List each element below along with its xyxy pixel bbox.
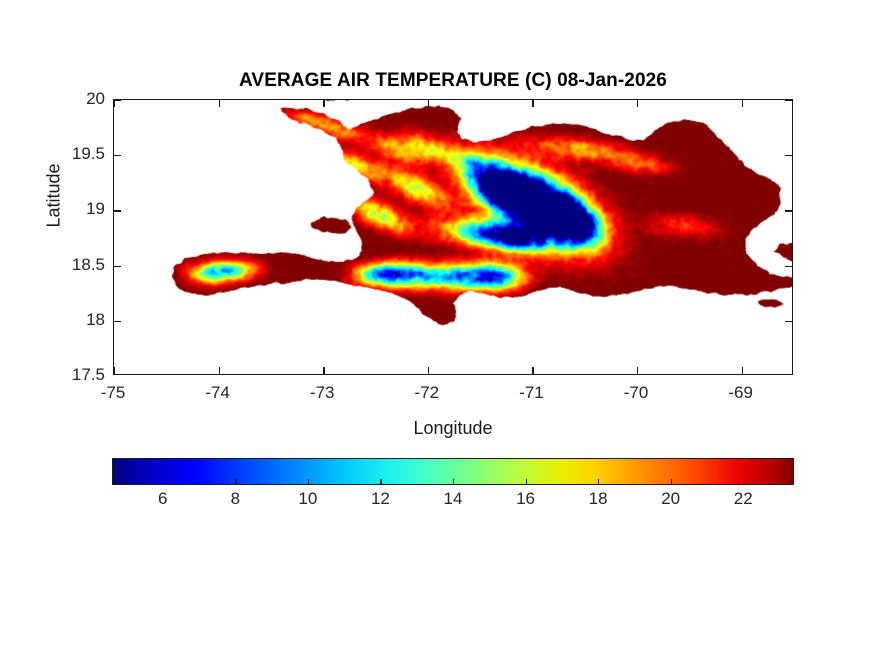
page-title: AVERAGE AIR TEMPERATURE (C) 08-Jan-2026 (113, 70, 793, 92)
x-tick-top (532, 100, 533, 107)
y-tick-label: 18 (17, 310, 105, 330)
x-tick-label: -69 (728, 383, 753, 403)
colorbar[interactable] (112, 458, 794, 485)
x-tick-top (637, 100, 638, 107)
colorbar-tick-label: 20 (661, 489, 680, 509)
y-axis-label: Latitude (44, 126, 65, 266)
x-tick-label: -72 (415, 383, 440, 403)
colorbar-tick-label: 8 (231, 489, 240, 509)
y-tick-right (785, 321, 792, 322)
temperature-heatmap (114, 100, 792, 374)
x-tick-top (428, 100, 429, 107)
colorbar-tick (526, 479, 527, 485)
x-tick (114, 367, 115, 374)
colorbar-tick-label: 16 (516, 489, 535, 509)
y-tick-right (785, 155, 792, 156)
y-tick-right (785, 100, 792, 101)
x-tick-label: -74 (205, 383, 230, 403)
x-tick-top (742, 100, 743, 107)
colorbar-tick (671, 479, 672, 485)
colorbar-tick-label: 22 (734, 489, 753, 509)
map-axes[interactable] (113, 99, 793, 375)
x-tick-top (219, 100, 220, 107)
colorbar-tick (743, 479, 744, 485)
x-tick-top (323, 100, 324, 107)
figure-canvas: AVERAGE AIR TEMPERATURE (C) 08-Jan-2026 … (0, 0, 875, 656)
y-tick-label: 17.5 (17, 365, 105, 385)
x-tick (637, 367, 638, 374)
colorbar-tick-label: 18 (589, 489, 608, 509)
colorbar-tick-label: 6 (158, 489, 167, 509)
x-tick (323, 367, 324, 374)
y-tick (114, 210, 121, 211)
colorbar-tick (308, 479, 309, 485)
x-tick-label: -73 (310, 383, 335, 403)
x-tick (428, 367, 429, 374)
colorbar-tick (380, 479, 381, 485)
x-tick-label: -70 (624, 383, 649, 403)
x-tick-label: -71 (519, 383, 544, 403)
y-tick (114, 155, 121, 156)
x-axis-label: Longitude (113, 418, 793, 439)
colorbar-tick (235, 479, 236, 485)
y-tick (114, 321, 121, 322)
y-tick (114, 266, 121, 267)
x-tick (532, 367, 533, 374)
x-tick (742, 367, 743, 374)
colorbar-tick (598, 479, 599, 485)
colorbar-tick (163, 479, 164, 485)
y-tick-right (785, 210, 792, 211)
colorbar-tick-label: 12 (371, 489, 390, 509)
colorbar-tick (453, 479, 454, 485)
x-tick (219, 367, 220, 374)
y-tick (114, 100, 121, 101)
x-tick-label: -75 (101, 383, 126, 403)
colorbar-tick-label: 10 (298, 489, 317, 509)
y-tick-right (785, 266, 792, 267)
y-tick-label: 20 (17, 89, 105, 109)
colorbar-tick-label: 14 (444, 489, 463, 509)
